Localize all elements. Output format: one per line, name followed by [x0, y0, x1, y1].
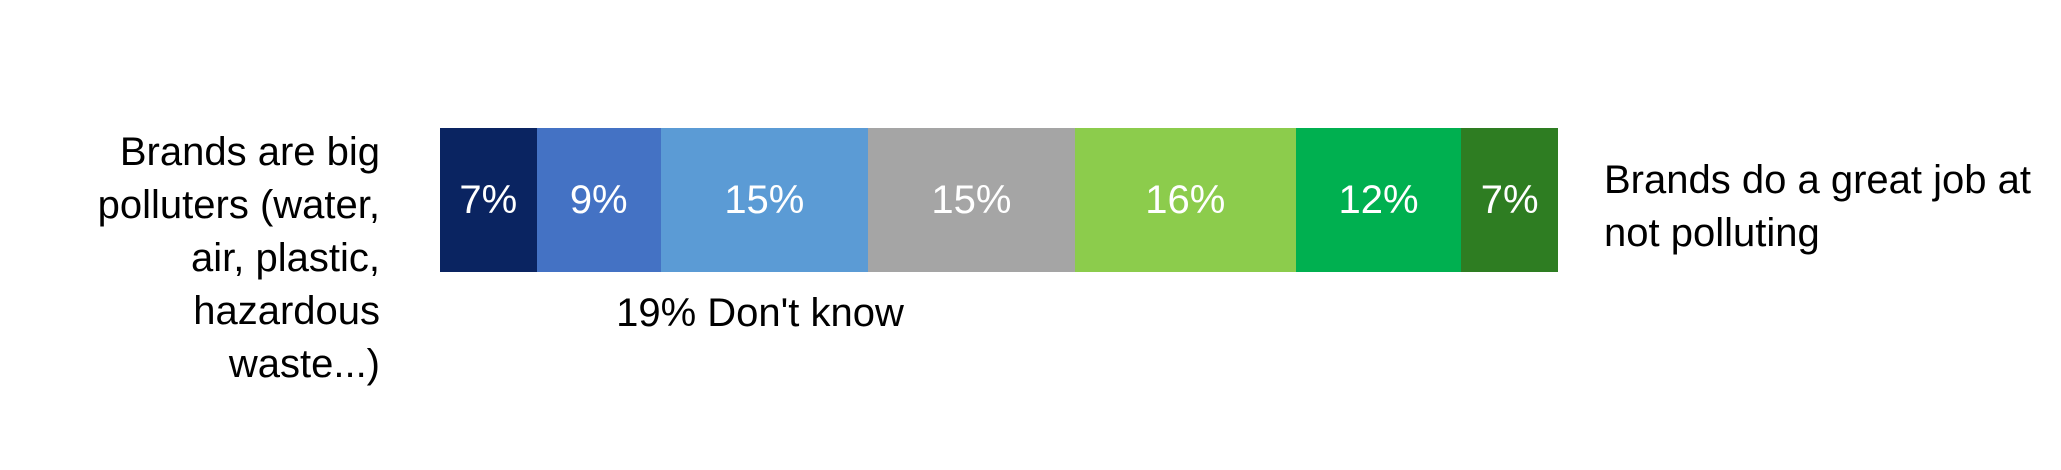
bar-segment-2: 9% [537, 128, 661, 272]
bar-segment-6: 12% [1296, 128, 1462, 272]
dont-know-annotation: 19% Don't know [440, 288, 1080, 338]
bar-segment-value-7: 7% [1481, 180, 1539, 220]
bar-segment-1: 7% [440, 128, 537, 272]
bar-segment-3: 15% [661, 128, 868, 272]
bar-segment-value-2: 9% [570, 180, 628, 220]
bar-segment-value-4: 15% [931, 180, 1011, 220]
bar-segment-value-3: 15% [724, 180, 804, 220]
bar-segment-value-6: 12% [1339, 180, 1419, 220]
diverging-stacked-bar-chart: Brands are big polluters (water, air, pl… [0, 0, 2061, 470]
bar-segment-5: 16% [1075, 128, 1296, 272]
bar-segment-value-1: 7% [459, 180, 517, 220]
bar-segment-7: 7% [1461, 128, 1558, 272]
bar-segment-value-5: 16% [1145, 180, 1225, 220]
right-anchor-label: Brands do a great job at not polluting [1604, 154, 2034, 260]
left-anchor-label: Brands are big polluters (water, air, pl… [60, 126, 380, 391]
bar-segment-4: 15% [868, 128, 1075, 272]
stacked-bar: 7%9%15%15%16%12%7% [440, 128, 1558, 272]
